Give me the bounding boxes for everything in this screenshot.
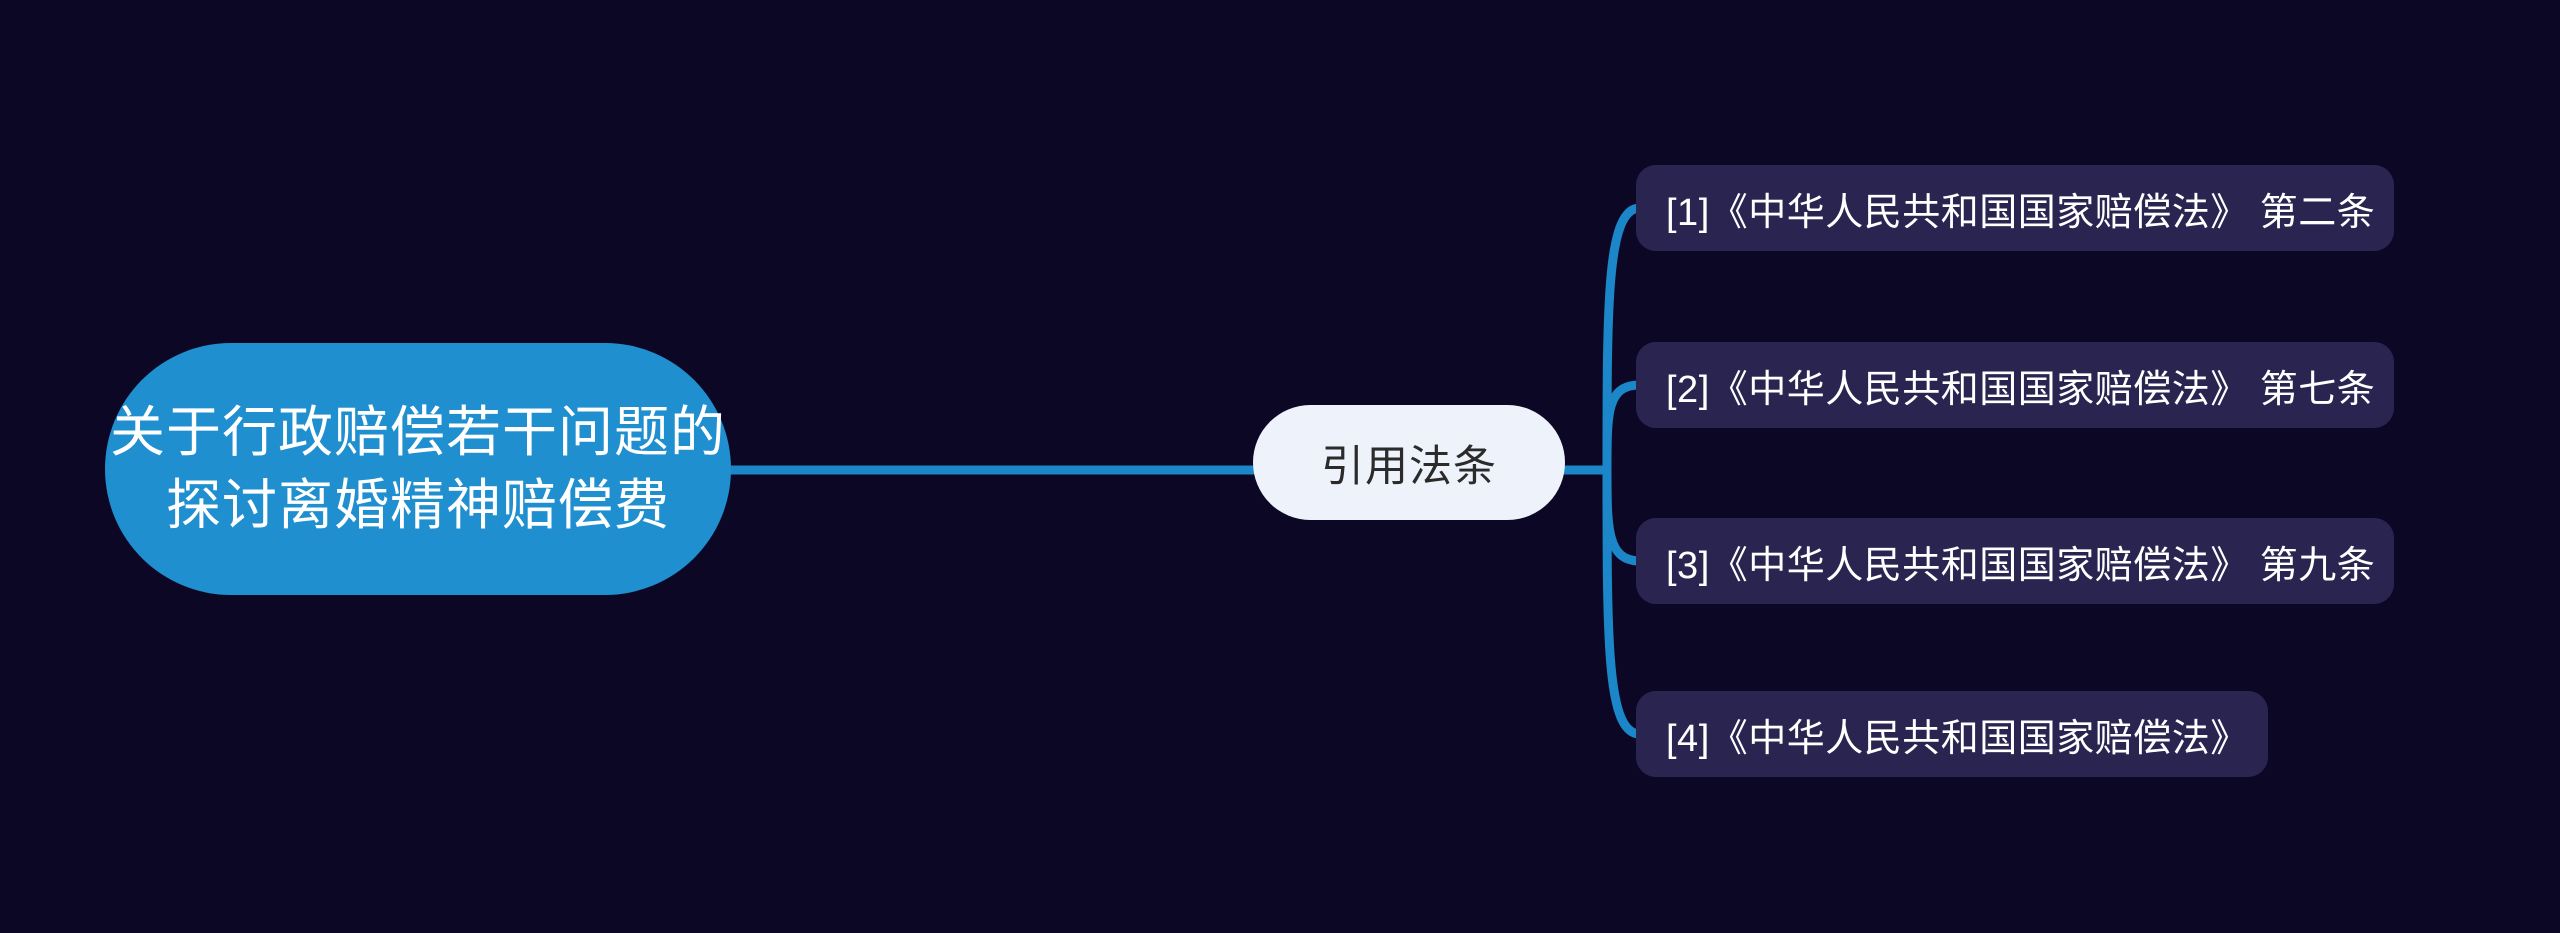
leaf-node-3-label: [3]《中华人民共和国国家赔偿法》 第九条 <box>1666 534 2375 589</box>
leaf-node-4[interactable]: [4]《中华人民共和国国家赔偿法》 <box>1636 691 2268 777</box>
root-node-line-1: 关于行政赔偿若干问题的 <box>110 396 726 469</box>
leaf-node-4-label: [4]《中华人民共和国国家赔偿法》 <box>1666 707 2249 762</box>
connector-branch-to-leaf-4 <box>1607 470 1640 734</box>
leaf-node-2[interactable]: [2]《中华人民共和国国家赔偿法》 第七条 <box>1636 342 2394 428</box>
connector-branch-to-leaf-1 <box>1607 208 1640 470</box>
leaf-node-1-label: [1]《中华人民共和国国家赔偿法》 第二条 <box>1666 181 2375 236</box>
root-node[interactable]: 关于行政赔偿若干问题的 探讨离婚精神赔偿费 <box>105 343 731 595</box>
branch-node-citations[interactable]: 引用法条 <box>1253 405 1565 520</box>
branch-node-label: 引用法条 <box>1321 432 1497 494</box>
mind-map-canvas: 关于行政赔偿若干问题的 探讨离婚精神赔偿费 引用法条 [1]《中华人民共和国国家… <box>0 0 2560 933</box>
leaf-node-1[interactable]: [1]《中华人民共和国国家赔偿法》 第二条 <box>1636 165 2394 251</box>
leaf-node-2-label: [2]《中华人民共和国国家赔偿法》 第七条 <box>1666 358 2375 413</box>
root-node-line-2: 探讨离婚精神赔偿费 <box>166 469 670 542</box>
leaf-node-3[interactable]: [3]《中华人民共和国国家赔偿法》 第九条 <box>1636 518 2394 604</box>
